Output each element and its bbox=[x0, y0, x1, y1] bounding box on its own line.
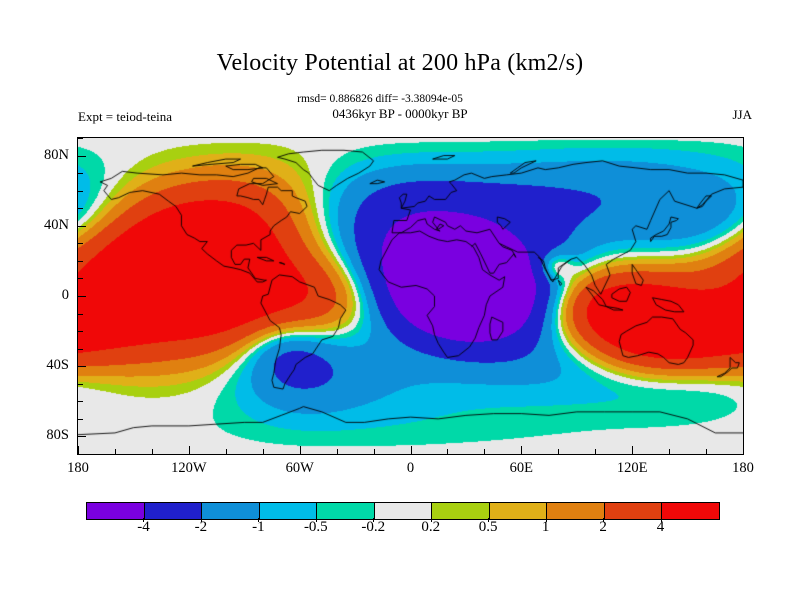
x-tick-label: 180 bbox=[48, 460, 108, 477]
x-tick bbox=[706, 449, 707, 454]
x-tick bbox=[521, 446, 522, 454]
y-tick bbox=[78, 401, 83, 402]
y-tick bbox=[78, 419, 83, 420]
x-tick bbox=[78, 446, 79, 454]
colorbar-band bbox=[317, 503, 375, 519]
y-tick bbox=[78, 314, 83, 315]
y-tick bbox=[78, 384, 83, 385]
colorbar-tick-label: 1 bbox=[526, 519, 566, 536]
colorbar-band bbox=[375, 503, 433, 519]
chart-subtitle: rmsd= 0.886826 diff= -3.38094e-05 bbox=[0, 93, 760, 105]
x-tick bbox=[226, 449, 227, 454]
x-tick-label: 0 bbox=[381, 460, 441, 477]
y-tick-label: 80N bbox=[19, 147, 69, 164]
x-tick bbox=[374, 449, 375, 454]
contour-field bbox=[78, 138, 743, 454]
y-tick bbox=[78, 454, 83, 455]
y-tick bbox=[78, 191, 83, 192]
y-tick bbox=[78, 208, 83, 209]
y-tick-label: 80S bbox=[19, 427, 69, 444]
x-tick bbox=[447, 449, 448, 454]
y-tick bbox=[78, 366, 86, 367]
x-tick bbox=[595, 449, 596, 454]
x-tick bbox=[669, 449, 670, 454]
x-tick bbox=[189, 446, 190, 454]
colorbar-band bbox=[202, 503, 260, 519]
y-tick bbox=[78, 436, 86, 437]
colorbar-band bbox=[547, 503, 605, 519]
y-tick bbox=[78, 226, 86, 227]
colorbar-band bbox=[490, 503, 548, 519]
season-label: JJA bbox=[732, 107, 752, 123]
x-tick-label: 120W bbox=[159, 460, 219, 477]
colorbar-band bbox=[662, 503, 719, 519]
y-tick bbox=[78, 173, 83, 174]
x-tick bbox=[300, 446, 301, 454]
experiment-label: Expt = teiod-teina bbox=[78, 109, 172, 125]
x-tick-label: 180 bbox=[713, 460, 773, 477]
x-tick bbox=[632, 446, 633, 454]
colorbar-band bbox=[260, 503, 318, 519]
x-tick bbox=[558, 449, 559, 454]
colorbar-band bbox=[145, 503, 203, 519]
colorbar-tick-label: -0.2 bbox=[353, 519, 393, 536]
x-tick bbox=[337, 449, 338, 454]
x-tick bbox=[411, 446, 412, 454]
x-tick-label: 60W bbox=[270, 460, 330, 477]
y-tick bbox=[78, 296, 86, 297]
colorbar-tick-label: 4 bbox=[641, 519, 681, 536]
x-tick bbox=[152, 449, 153, 454]
y-tick-label: 40N bbox=[19, 217, 69, 234]
chart-title: Velocity Potential at 200 hPa (km2/s) bbox=[0, 50, 800, 77]
y-tick-label: 0 bbox=[19, 287, 69, 304]
x-tick bbox=[263, 449, 264, 454]
y-tick bbox=[78, 331, 83, 332]
y-tick bbox=[78, 243, 83, 244]
colorbar-tick-label: 0.2 bbox=[411, 519, 451, 536]
colorbar-tick-label: 0.5 bbox=[468, 519, 508, 536]
y-tick bbox=[78, 138, 83, 139]
x-tick-label: 120E bbox=[602, 460, 662, 477]
x-tick bbox=[115, 449, 116, 454]
x-tick bbox=[743, 446, 744, 454]
x-tick bbox=[484, 449, 485, 454]
colorbar-band bbox=[432, 503, 490, 519]
colorbar-tick-label: -2 bbox=[181, 519, 221, 536]
y-tick bbox=[78, 261, 83, 262]
map-plot-area bbox=[77, 137, 744, 455]
y-tick bbox=[78, 156, 86, 157]
colorbar-tick-label: -0.5 bbox=[296, 519, 336, 536]
colorbar-band bbox=[605, 503, 663, 519]
colorbar-tick-label: -4 bbox=[123, 519, 163, 536]
y-tick bbox=[78, 349, 83, 350]
colorbar-band bbox=[87, 503, 145, 519]
colorbar-tick-label: 2 bbox=[583, 519, 623, 536]
colorbar-tick-label: -1 bbox=[238, 519, 278, 536]
y-tick-label: 40S bbox=[19, 357, 69, 374]
x-tick-label: 60E bbox=[491, 460, 551, 477]
colorbar bbox=[86, 502, 720, 520]
figure-canvas: Velocity Potential at 200 hPa (km2/s) rm… bbox=[0, 0, 800, 600]
y-tick bbox=[78, 278, 83, 279]
